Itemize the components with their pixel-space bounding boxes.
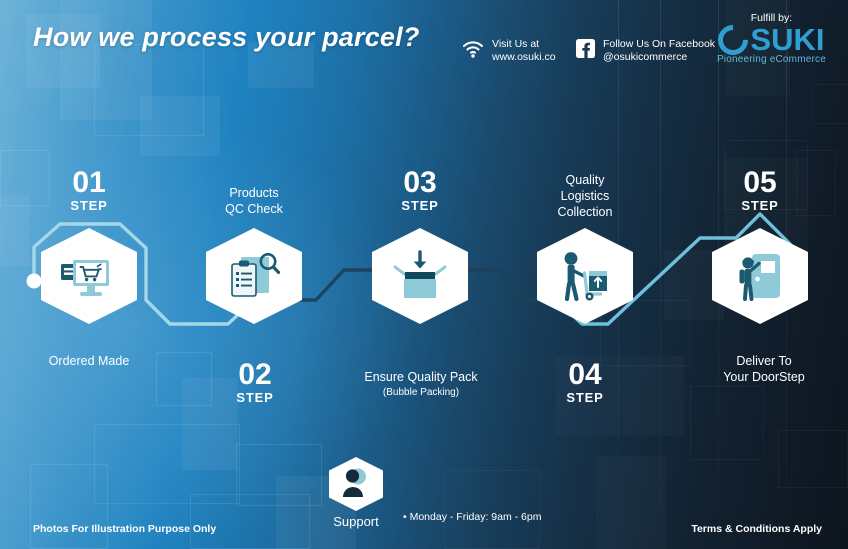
facebook-line1: Follow Us On Facebook	[603, 38, 715, 50]
step-03-label-sub: (Bubble Packing)	[340, 385, 502, 401]
door-delivery-icon	[732, 249, 788, 303]
footer-terms[interactable]: Terms & Conditions Apply	[691, 523, 822, 535]
footer-left-note: Photos For Illustration Purpose Only	[33, 523, 216, 535]
deco-stripe	[660, 0, 661, 549]
deco-rect	[0, 150, 50, 206]
step-05-step-word: STEP	[729, 199, 791, 212]
start-dot	[27, 274, 42, 289]
support-label: Support	[329, 514, 383, 529]
facebook-line2: @osukicommerce	[603, 51, 715, 64]
logo-tagline: Pioneering eCommerce	[717, 54, 826, 65]
deco-rect	[600, 300, 690, 366]
support-hours: • Monday - Friday: 9am - 6pm	[403, 511, 541, 523]
step-02-step-word: STEP	[224, 391, 286, 404]
step-01-hexagon	[41, 228, 137, 324]
step-03-number: 03 STEP	[389, 168, 451, 212]
facebook-icon	[576, 39, 595, 63]
step-03-hexagon	[372, 228, 468, 324]
step-04-number: 04 STEP	[554, 360, 616, 404]
logo-mark: SUKI	[717, 25, 826, 55]
deco-rect	[812, 84, 848, 124]
visit-line2: www.osuki.co	[492, 51, 556, 64]
logo-name: SUKI	[750, 25, 824, 55]
visit-line1: Visit Us at	[492, 38, 539, 50]
deco-rect	[778, 430, 848, 488]
open-box-icon	[391, 250, 449, 302]
step-01-label: Ordered Made	[9, 353, 169, 369]
deco-rect	[690, 386, 764, 460]
infographic-poster: How we process your parcel? Visit Us at …	[0, 0, 848, 549]
deco-rect	[0, 196, 30, 266]
step-01-number: 01 STEP	[58, 168, 120, 212]
step-03-label: Ensure Quality Pack (Bubble Packing)	[340, 353, 502, 417]
step-05-number: 05 STEP	[729, 168, 791, 212]
visit-us-text: Visit Us at www.osuki.co	[492, 38, 556, 64]
step-02-label: Products QC Check	[186, 185, 322, 217]
trolley-worker-icon	[556, 249, 614, 303]
step-02-number: 02 STEP	[224, 360, 286, 404]
facebook-text: Follow Us On Facebook @osukicommerce	[603, 38, 715, 64]
step-03-num-text: 03	[389, 168, 451, 198]
support-block[interactable]: Support	[329, 457, 383, 529]
deco-rect	[190, 494, 310, 549]
deco-rect	[94, 44, 204, 136]
clipboard-search-icon	[225, 249, 283, 303]
support-person-icon	[340, 467, 372, 502]
step-03-label-main: Ensure Quality Pack	[364, 370, 477, 384]
deco-rect	[444, 470, 540, 549]
step-04-num-text: 04	[554, 360, 616, 390]
deco-rect	[30, 464, 108, 549]
deco-rect	[596, 456, 666, 549]
facebook-block[interactable]: Follow Us On Facebook @osukicommerce	[576, 38, 715, 64]
deco-rect	[140, 96, 220, 156]
support-hexagon	[329, 457, 383, 511]
deco-rect	[94, 424, 240, 504]
step-04-label: Quality Logistics Collection	[518, 172, 652, 220]
wifi-icon	[462, 40, 484, 63]
step-04-step-word: STEP	[554, 391, 616, 404]
step-02-num-text: 02	[224, 360, 286, 390]
osuki-logo: Fulfill by: SUKI Pioneering eCommerce	[717, 12, 826, 65]
step-05-hexagon	[712, 228, 808, 324]
page-title: How we process your parcel?	[33, 22, 420, 53]
monitor-cart-icon	[59, 250, 119, 302]
visit-us-block[interactable]: Visit Us at www.osuki.co	[462, 38, 556, 64]
deco-rect	[236, 444, 322, 506]
step-02-hexagon	[206, 228, 302, 324]
deco-rect	[796, 150, 836, 216]
deco-rect	[60, 0, 152, 120]
step-01-step-word: STEP	[58, 199, 120, 212]
step-05-num-text: 05	[729, 168, 791, 198]
step-01-num-text: 01	[58, 168, 120, 198]
step-05-label: Deliver To Your DoorStep	[684, 353, 844, 385]
step-03-step-word: STEP	[389, 199, 451, 212]
